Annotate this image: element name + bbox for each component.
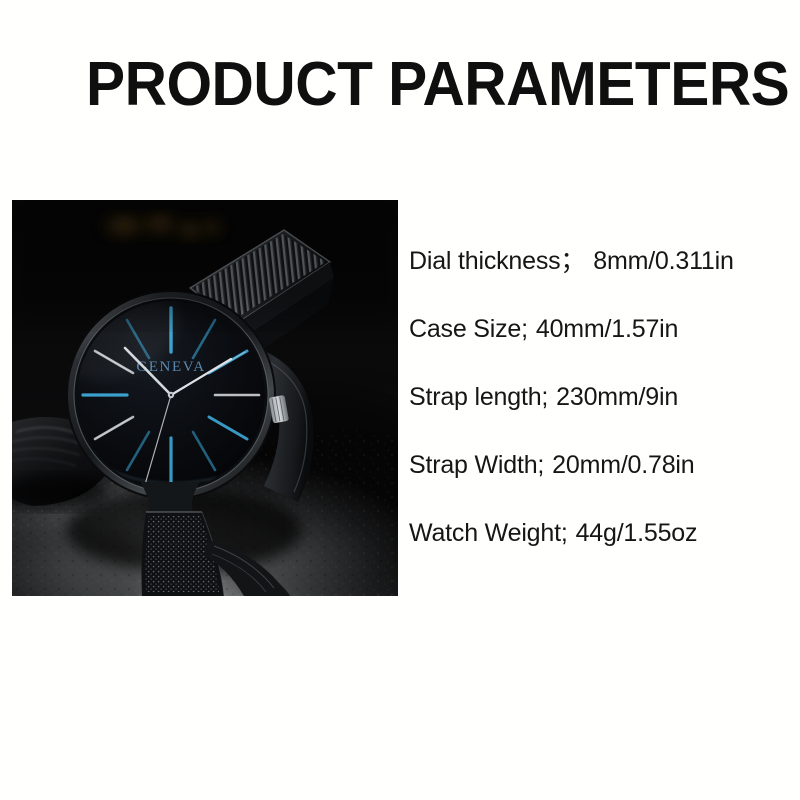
- spec-row-case-size: Case Size; 40mm/1.57in: [409, 314, 789, 382]
- spec-value-strap-length: 230mm/9in: [556, 382, 678, 412]
- product-photo: GENEVA: [12, 200, 398, 596]
- page-title: PRODUCT PARAMETERS: [86, 54, 691, 116]
- spec-row-strap-width: Strap Width; 20mm/0.78in: [409, 450, 789, 518]
- spec-label-watch-weight: Watch Weight;: [409, 518, 568, 548]
- spec-value-strap-width: 20mm/0.78in: [552, 450, 694, 480]
- spec-label-dial-thickness: Dial thickness；: [409, 246, 585, 276]
- spec-value-watch-weight: 44g/1.55oz: [576, 518, 698, 548]
- spec-value-case-size: 40mm/1.57in: [536, 314, 678, 344]
- spec-row-dial-thickness: Dial thickness； 8mm/0.311in: [409, 246, 789, 314]
- spec-label-strap-length: Strap length;: [409, 382, 548, 412]
- spec-value-dial-thickness: 8mm/0.311in: [593, 246, 733, 276]
- spec-label-strap-width: Strap Width;: [409, 450, 544, 480]
- spec-list: Dial thickness； 8mm/0.311in Case Size; 4…: [409, 246, 789, 586]
- spec-label-case-size: Case Size;: [409, 314, 528, 344]
- spec-row-watch-weight: Watch Weight; 44g/1.55oz: [409, 518, 789, 586]
- watch-photo-illustration: GENEVA: [12, 200, 398, 596]
- spec-row-strap-length: Strap length; 230mm/9in: [409, 382, 789, 450]
